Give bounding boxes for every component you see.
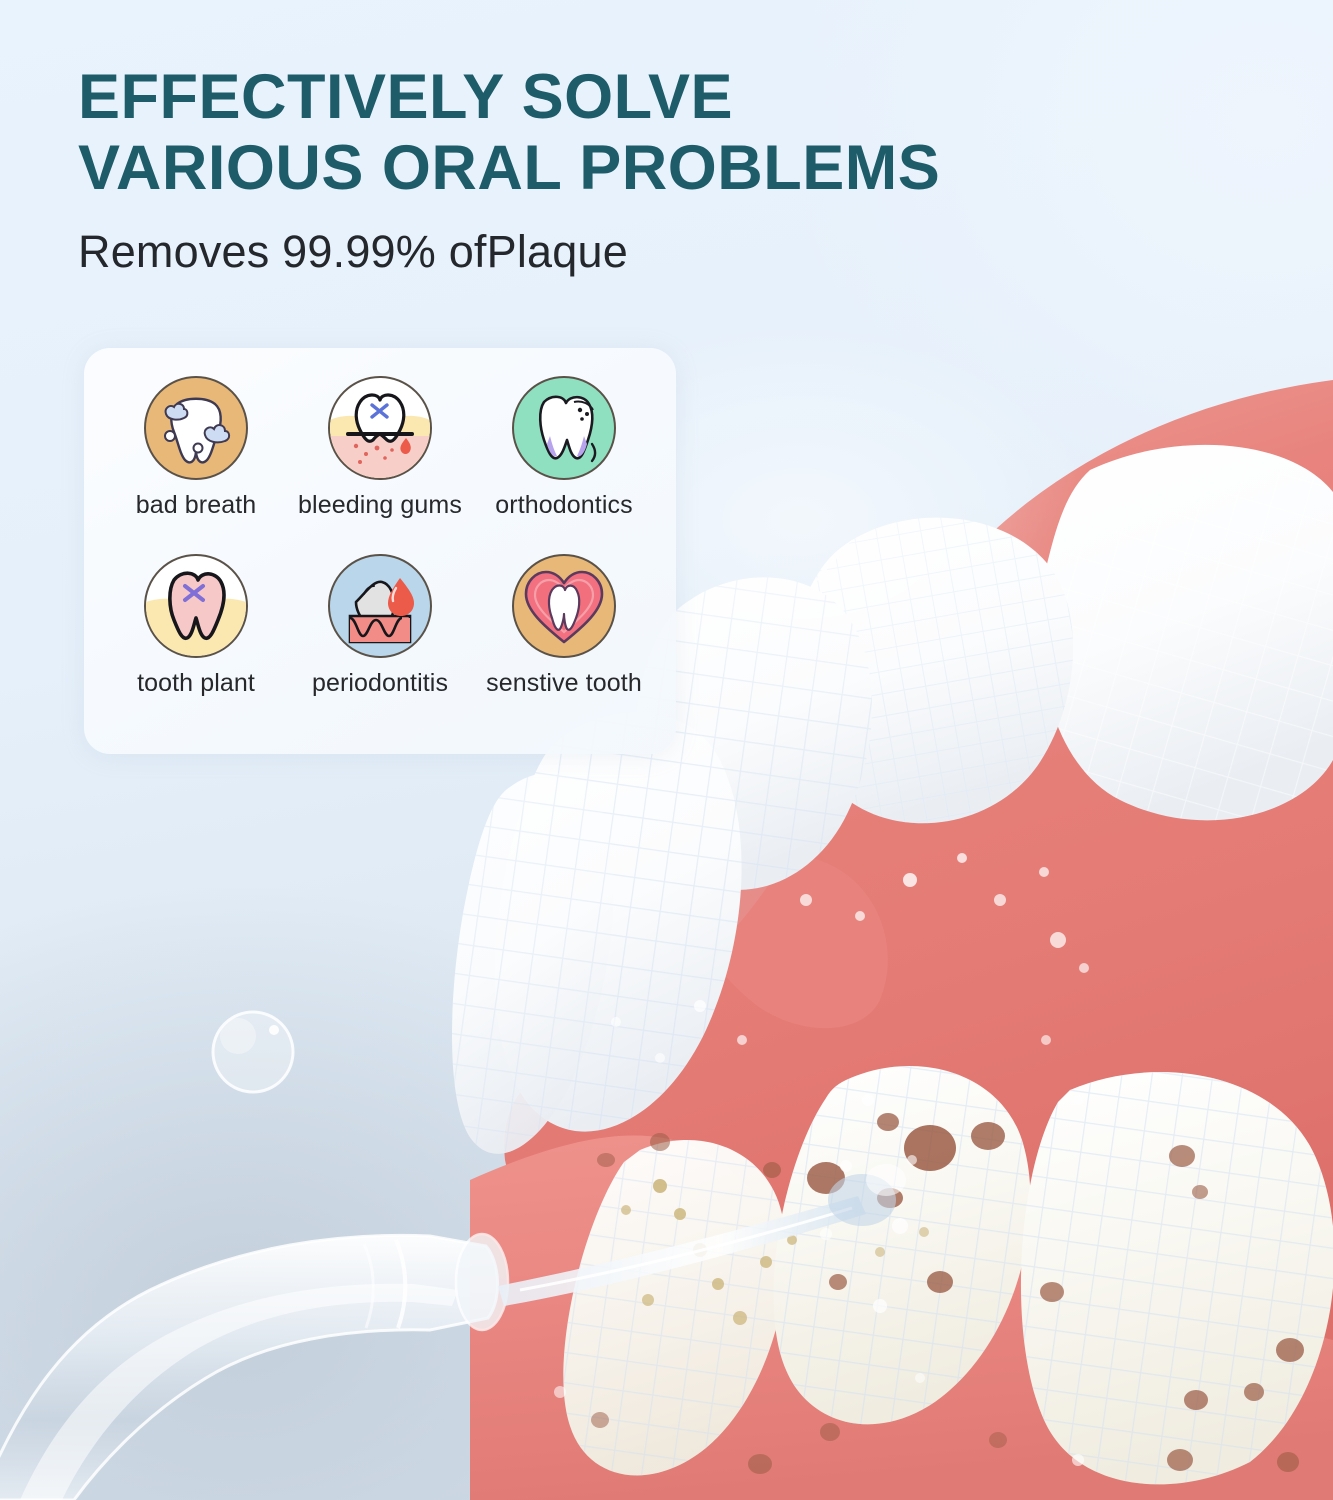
benefits-panel: bad breath ble (84, 348, 676, 754)
benefit-item-bad-breath[interactable]: bad breath (104, 376, 288, 554)
benefit-item-orthodontics[interactable]: orthodontics (472, 376, 656, 554)
jet-splash (820, 1155, 917, 1240)
bleeding-gums-icon (328, 376, 432, 480)
water-jet-stream (498, 1196, 866, 1306)
nozzle-tip (456, 1234, 508, 1330)
tooth-plant-icon (144, 554, 248, 658)
bad-breath-icon (144, 376, 248, 480)
benefit-label: orthodontics (495, 491, 632, 520)
benefits-grid: bad breath ble (84, 348, 676, 754)
benefit-label: bad breath (136, 491, 257, 520)
header-block: EFFECTIVELY SOLVE VARIOUS ORAL PROBLEMS … (78, 62, 1058, 278)
benefit-label: bleeding gums (298, 491, 462, 520)
benefit-label: periodontitis (312, 669, 448, 698)
benefit-label: tooth plant (137, 669, 255, 698)
benefit-item-sensitive-tooth[interactable]: senstive tooth (472, 554, 656, 732)
water-droplet (213, 1012, 293, 1092)
page-subtitle: Removes 99.99% ofPlaque (78, 226, 1058, 278)
benefit-item-periodontitis[interactable]: periodontitis (288, 554, 472, 732)
orthodontics-icon (512, 376, 616, 480)
benefit-item-tooth-plant[interactable]: tooth plant (104, 554, 288, 732)
sensitive-tooth-icon (512, 554, 616, 658)
benefit-label: senstive tooth (486, 669, 642, 698)
benefit-item-bleeding-gums[interactable]: bleeding gums (288, 376, 472, 554)
page-title: EFFECTIVELY SOLVE VARIOUS ORAL PROBLEMS (78, 62, 1058, 204)
periodontitis-icon (328, 554, 432, 658)
